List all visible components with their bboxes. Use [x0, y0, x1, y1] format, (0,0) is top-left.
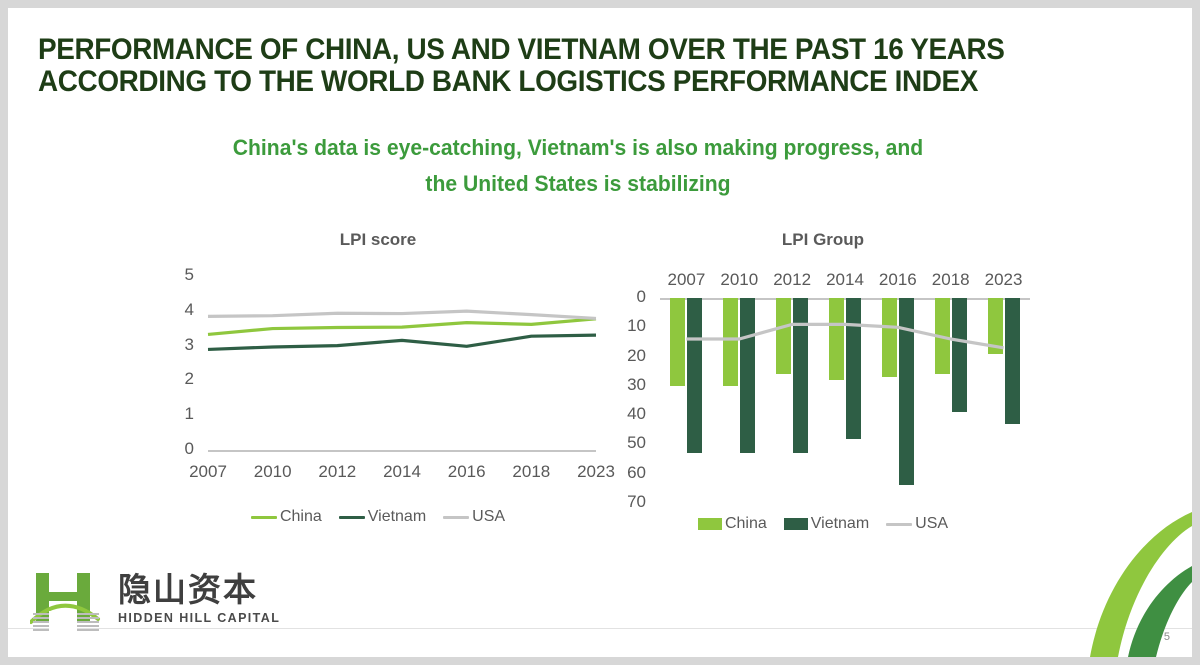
- page-number: 5: [1164, 631, 1170, 643]
- page-subtitle: China's data is eye-catching, Vietnam's …: [158, 130, 998, 202]
- bar-vietnam-2012: [793, 298, 808, 453]
- y-axis-tick-label: 60: [608, 463, 646, 483]
- bar-china-2007: [670, 298, 685, 386]
- legend-swatch-usa: [443, 516, 469, 519]
- subtitle-line-1: China's data is eye-catching, Vietnam's …: [175, 130, 981, 166]
- x-axis-tick-label: 2016: [437, 462, 497, 482]
- legend-label-china: China: [280, 508, 322, 526]
- title-line-1: PERFORMANCE OF CHINA, US AND VIETNAM OVE…: [38, 34, 1061, 66]
- series-line-vietnam: [208, 335, 596, 349]
- brand-logo: 隐山资本 HIDDEN HILL CAPITAL: [30, 563, 280, 635]
- legend-label-vietnam: Vietnam: [368, 508, 426, 526]
- y-axis-tick-label: 10: [608, 316, 646, 336]
- subtitle-line-2: the United States is stabilizing: [175, 166, 981, 202]
- legend-label-usa: USA: [915, 515, 948, 533]
- legend-item-vietnam: Vietnam: [784, 515, 869, 533]
- x-axis-tick-label: 2012: [307, 462, 367, 482]
- legend-swatch-usa: [886, 523, 912, 526]
- y-axis-tick-label: 20: [608, 346, 646, 366]
- series-line-china: [208, 319, 596, 335]
- legend-swatch-vietnam: [339, 516, 365, 519]
- y-axis-tick-label: 50: [608, 433, 646, 453]
- lpi-score-lines: [148, 270, 608, 490]
- legend-swatch-vietnam: [784, 518, 808, 530]
- brand-name-cn: 隐山资本: [118, 573, 280, 607]
- bar-vietnam-2010: [740, 298, 755, 453]
- x-axis-tick-label: 2023: [974, 270, 1034, 290]
- x-axis-tick-label: 2012: [762, 270, 822, 290]
- x-axis-tick-label: 2007: [656, 270, 716, 290]
- x-axis-tick-label: 2018: [501, 462, 561, 482]
- legend-item-usa: USA: [443, 508, 505, 526]
- y-axis-tick-label: 0: [608, 287, 646, 307]
- legend-label-usa: USA: [472, 508, 505, 526]
- chart-title-lpi-group: LPI Group: [608, 230, 1038, 250]
- bar-vietnam-2018: [952, 298, 967, 412]
- x-axis-line: [660, 298, 1030, 300]
- x-axis-tick-label: 2018: [921, 270, 981, 290]
- legend-swatch-china: [698, 518, 722, 530]
- y-axis-tick-label: 30: [608, 375, 646, 395]
- legend-label-vietnam: Vietnam: [811, 515, 869, 533]
- y-axis-tick-label: 70: [608, 492, 646, 512]
- legend-swatch-china: [251, 516, 277, 519]
- bar-vietnam-2023: [1005, 298, 1020, 424]
- chart-title-lpi-score: LPI score: [148, 230, 608, 250]
- x-axis-tick-label: 2014: [815, 270, 875, 290]
- series-line-usa: [208, 311, 596, 318]
- legend-item-china: China: [251, 508, 322, 526]
- y-axis-tick-label: 40: [608, 404, 646, 424]
- chart-lpi-group: LPI Group 010203040506070200720102012201…: [608, 230, 1038, 550]
- x-axis-tick-label: 2014: [372, 462, 432, 482]
- slide-canvas: PERFORMANCE OF CHINA, US AND VIETNAM OVE…: [8, 8, 1192, 657]
- lpi-group-plot-area: 0102030405060702007201020122014201620182…: [608, 264, 1038, 509]
- x-axis-tick-label: 2007: [178, 462, 238, 482]
- bar-china-2023: [988, 298, 1003, 354]
- legend-item-usa: USA: [886, 515, 948, 533]
- legend-lpi-score: ChinaVietnamUSA: [148, 508, 608, 526]
- bar-vietnam-2014: [846, 298, 861, 439]
- chart-lpi-score: LPI score 543210200720102012201420162018…: [148, 230, 608, 540]
- brand-name-en: HIDDEN HILL CAPITAL: [118, 611, 280, 625]
- page-title: PERFORMANCE OF CHINA, US AND VIETNAM OVE…: [38, 34, 1138, 98]
- legend-label-china: China: [725, 515, 767, 533]
- hidden-hill-bridge-logo-icon: [30, 563, 102, 635]
- bar-vietnam-2007: [687, 298, 702, 453]
- legend-item-china: China: [698, 515, 767, 533]
- x-axis-tick-label: 2016: [868, 270, 928, 290]
- bar-china-2018: [935, 298, 950, 374]
- bar-china-2014: [829, 298, 844, 380]
- x-axis-tick-label: 2010: [243, 462, 303, 482]
- lpi-score-plot-area: 5432102007201020122014201620182023: [148, 270, 608, 490]
- title-line-2: ACCORDING TO THE WORLD BANK LOGISTICS PE…: [38, 66, 1061, 98]
- bar-china-2010: [723, 298, 738, 386]
- bar-vietnam-2016: [899, 298, 914, 485]
- bar-china-2016: [882, 298, 897, 377]
- legend-lpi-group: ChinaVietnamUSA: [608, 515, 1038, 533]
- legend-item-vietnam: Vietnam: [339, 508, 426, 526]
- x-axis-tick-label: 2010: [709, 270, 769, 290]
- bar-china-2012: [776, 298, 791, 374]
